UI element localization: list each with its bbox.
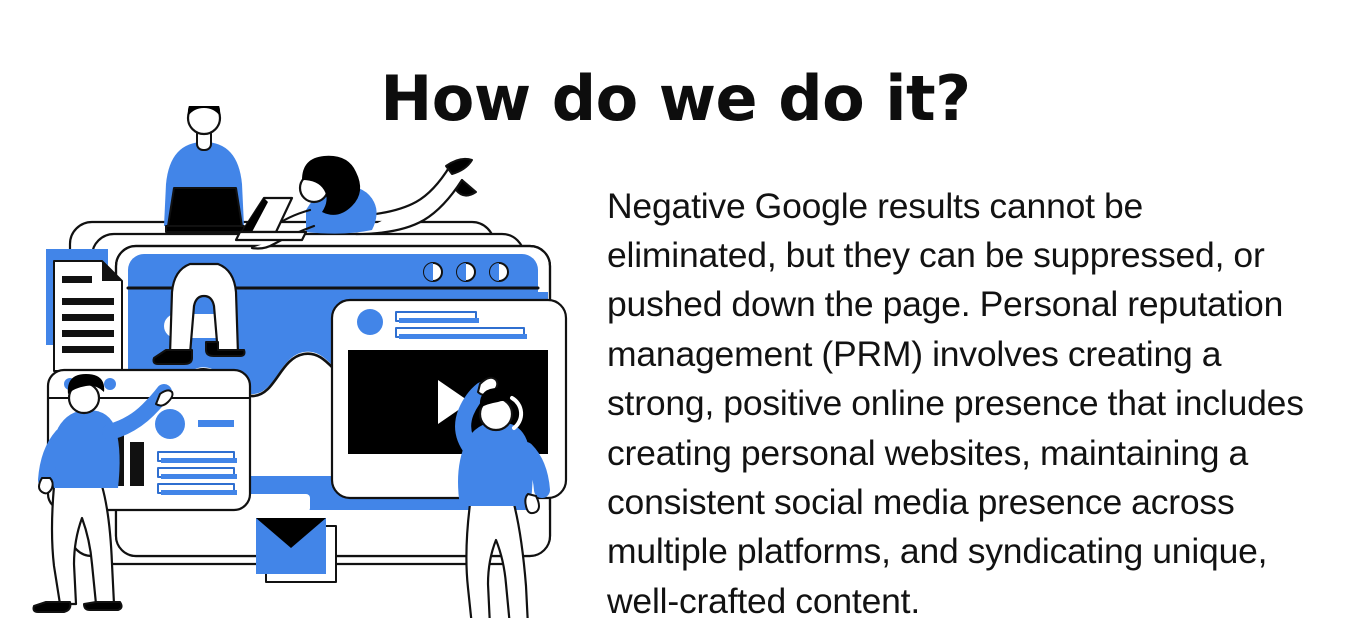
slide-canvas: How do we do it? (0, 0, 1351, 642)
hero-illustration (18, 106, 588, 618)
list-rows (158, 452, 237, 495)
avatar (357, 309, 383, 335)
avatar (155, 409, 185, 439)
envelope-icon[interactable] (256, 518, 336, 582)
window-control-dots[interactable] (424, 263, 508, 281)
body-paragraph: Negative Google results cannot be elimin… (607, 182, 1319, 627)
